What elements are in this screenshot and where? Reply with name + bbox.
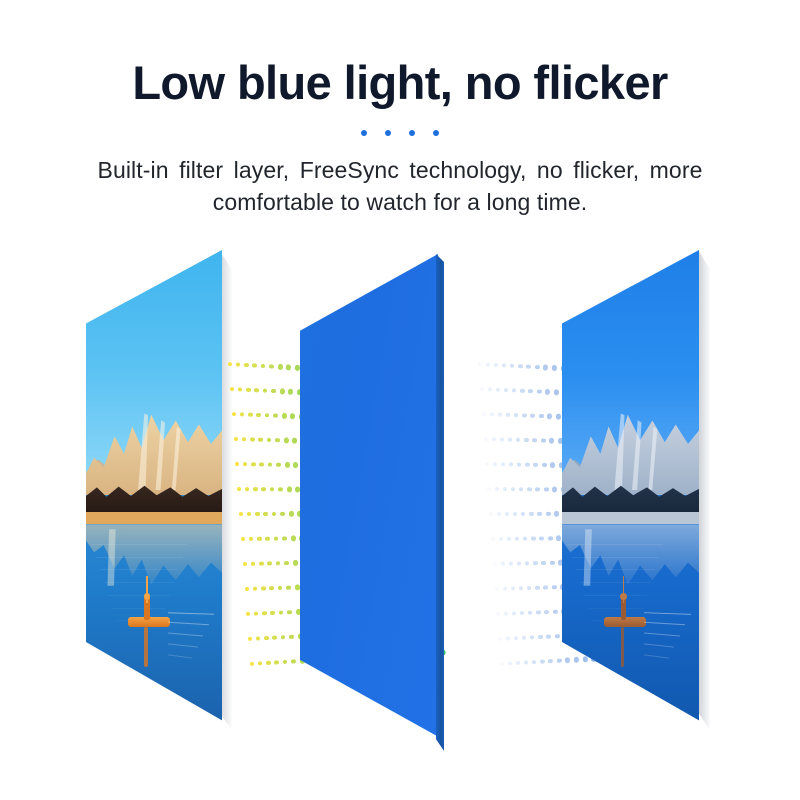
divider-dot <box>409 130 415 136</box>
water-ripple <box>567 544 663 545</box>
filtered-display-screen <box>562 250 699 740</box>
subtitle-line-2: comfortable to watch for a long time. <box>15 186 785 219</box>
water-ripple <box>580 582 651 583</box>
kayak-reflection <box>621 627 625 666</box>
divider-dot <box>433 130 439 136</box>
water-ripple <box>572 557 660 558</box>
divider-dot <box>385 130 391 136</box>
product-feature-banner: Low blue light, no flicker Built-in filt… <box>0 0 800 800</box>
paddle-shaft <box>623 576 625 603</box>
subtitle-line-1: Built-in filter layer, FreeSync technolo… <box>15 154 785 187</box>
divider-dot <box>361 130 367 136</box>
subtitle: Built-in filter layer, FreeSync technolo… <box>15 154 785 219</box>
divider-dots <box>361 130 439 136</box>
filtered-display-bezel <box>698 250 710 730</box>
illustration-scene <box>0 228 800 788</box>
kayak <box>600 593 660 657</box>
water-ripple <box>576 569 655 570</box>
cool-landscape-image <box>562 250 699 740</box>
header: Low blue light, no flicker Built-in filt… <box>0 0 800 219</box>
filtered-display-panel <box>0 228 800 788</box>
page-title: Low blue light, no flicker <box>0 0 800 108</box>
shoreline-band <box>562 512 699 524</box>
